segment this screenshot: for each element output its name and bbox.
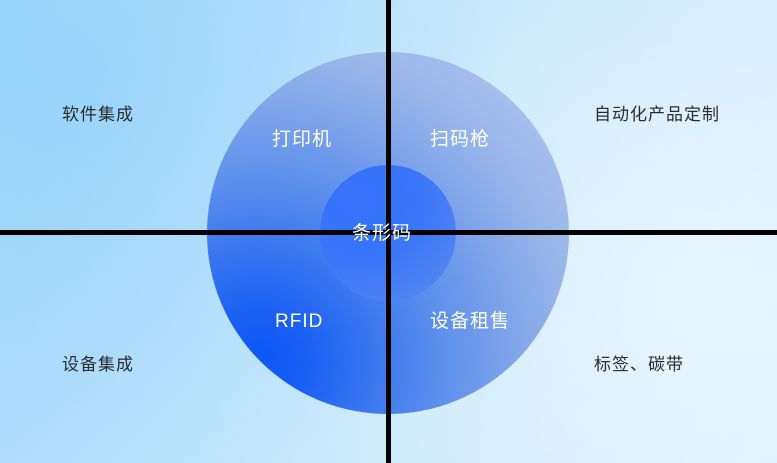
quadrant-label-labels-ribbons[interactable]: 标签、碳带 [594, 356, 684, 373]
segment-label-scanner[interactable]: 扫码枪 [430, 130, 490, 149]
diagram-canvas: 打印机 扫码枪 RFID 设备租售 条形码 软件集成 自动化产品定制 设备集成 … [0, 0, 777, 463]
quadrant-label-software-integration[interactable]: 软件集成 [62, 106, 134, 123]
quadrant-label-automation-customization[interactable]: 自动化产品定制 [594, 106, 720, 123]
segment-label-equipment-rental[interactable]: 设备租售 [430, 312, 510, 331]
quadrant-label-equipment-integration[interactable]: 设备集成 [62, 356, 134, 373]
segment-label-rfid[interactable]: RFID [275, 312, 323, 331]
segment-label-printer[interactable]: 打印机 [272, 130, 332, 149]
center-label-barcode[interactable]: 条形码 [352, 224, 412, 243]
